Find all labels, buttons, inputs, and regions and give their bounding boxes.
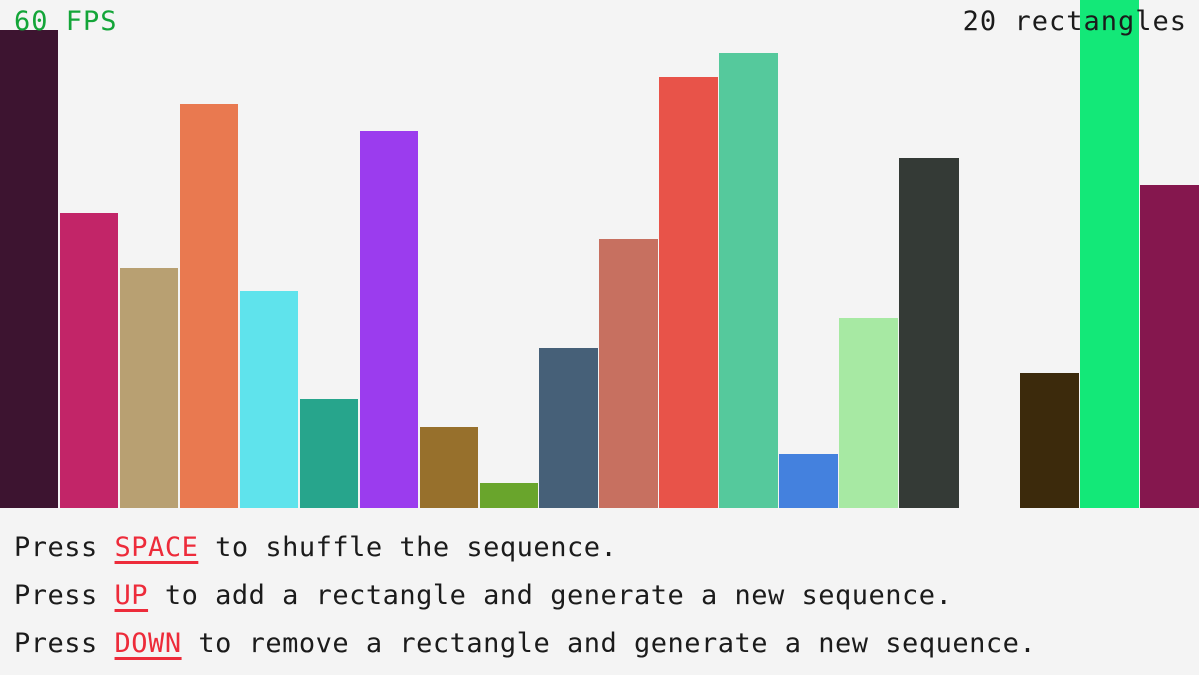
chart-bar <box>120 268 178 508</box>
rectangle-chart-canvas[interactable] <box>0 0 1199 508</box>
chart-bar <box>599 239 658 508</box>
fps-counter: 60 FPS <box>14 8 118 35</box>
instruction-line: Press UP to add a rectangle and generate… <box>14 572 1199 620</box>
instruction-line: Press SPACE to shuffle the sequence. <box>14 524 1199 572</box>
chart-bar <box>779 454 838 508</box>
key-hint-down[interactable]: DOWN <box>115 628 182 659</box>
instructions-panel: Press SPACE to shuffle the sequence.Pres… <box>0 508 1199 675</box>
chart-bar <box>360 131 418 508</box>
chart-bar <box>240 291 298 508</box>
chart-bar <box>899 158 959 508</box>
instruction-suffix: to shuffle the sequence. <box>198 532 617 563</box>
chart-bar <box>839 318 898 508</box>
chart-bar <box>1080 0 1139 508</box>
chart-bar <box>1020 373 1079 508</box>
rectangle-count-label: 20 rectangles <box>963 8 1187 35</box>
instruction-prefix: Press <box>14 580 115 611</box>
key-hint-space[interactable]: SPACE <box>115 532 199 563</box>
chart-bar <box>180 104 238 508</box>
chart-bar <box>719 53 778 508</box>
chart-bar <box>300 399 358 508</box>
instruction-line: Press DOWN to remove a rectangle and gen… <box>14 620 1199 668</box>
chart-bar <box>659 77 718 508</box>
key-hint-up[interactable]: UP <box>115 580 149 611</box>
instruction-prefix: Press <box>14 532 115 563</box>
instruction-suffix: to add a rectangle and generate a new se… <box>148 580 952 611</box>
chart-bar <box>60 213 118 508</box>
chart-bar <box>1140 185 1199 508</box>
chart-bar <box>0 30 58 508</box>
chart-bar <box>539 348 598 508</box>
instruction-suffix: to remove a rectangle and generate a new… <box>182 628 1037 659</box>
chart-bar <box>420 427 478 508</box>
instruction-prefix: Press <box>14 628 115 659</box>
app-root: 60 FPS 20 rectangles Press SPACE to shuf… <box>0 0 1199 675</box>
chart-bar <box>480 483 538 508</box>
